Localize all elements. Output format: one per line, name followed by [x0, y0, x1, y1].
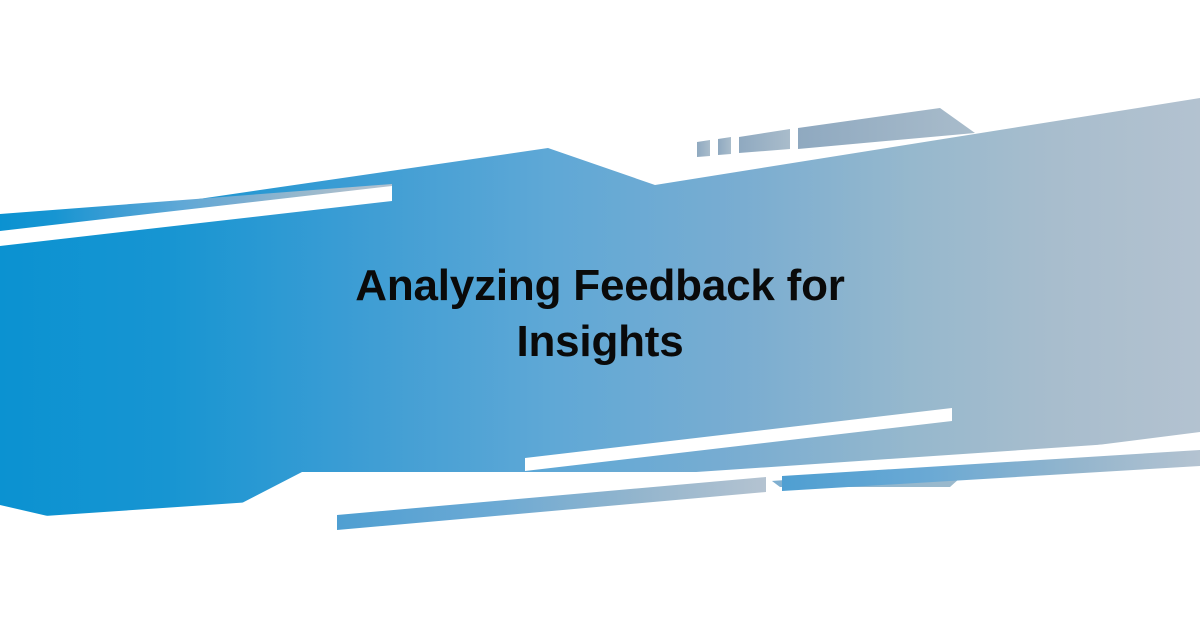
dash-square-2 [718, 137, 731, 155]
banner-background-graphic [0, 0, 1200, 630]
dash-bar-1 [739, 129, 790, 153]
banner-hero: Analyzing Feedback for Insights [0, 0, 1200, 630]
dash-square-1 [697, 140, 710, 157]
